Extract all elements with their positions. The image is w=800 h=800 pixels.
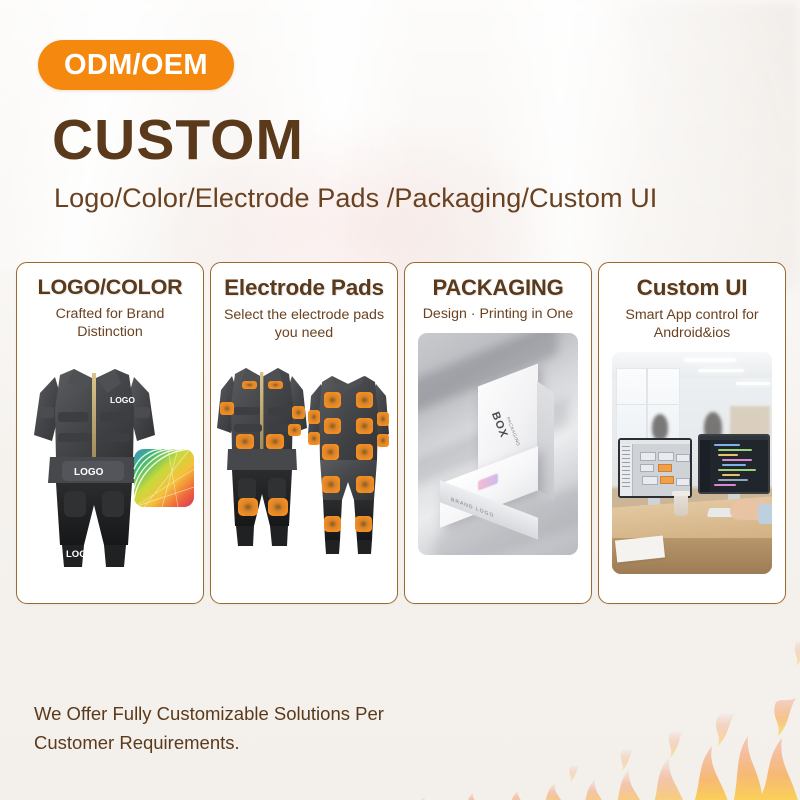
electrode-pad <box>355 516 372 532</box>
footer-blurb: We Offer Fully Customizable Solutions Pe… <box>34 700 454 757</box>
electrode-pad <box>308 410 320 424</box>
electrode-pad <box>242 381 257 389</box>
card-subtitle: Smart App control for Android&ios <box>606 306 778 342</box>
electrode-pad <box>268 381 283 389</box>
electrode-pad <box>266 434 284 449</box>
logo-mark-leg: LOGO <box>66 549 94 560</box>
monitor-ui-design <box>618 438 692 498</box>
electrode-pad <box>322 444 339 460</box>
ceiling-light <box>684 358 736 362</box>
odm-oem-badge-label: ODM/OEM <box>64 49 208 82</box>
electrode-pad <box>220 402 234 415</box>
card-logo-color[interactable]: LOGO/COLOR Crafted for Brand Distinction <box>16 262 204 604</box>
infographic-page: ODM/OEM CUSTOM Logo/Color/Electrode Pads… <box>0 0 800 800</box>
electrode-pad <box>308 432 320 445</box>
electrode-pad <box>324 516 341 532</box>
monitor-code <box>698 434 770 494</box>
shelf <box>730 406 770 436</box>
electrode-pad <box>324 418 341 434</box>
background-shade-right <box>590 0 800 290</box>
card-packaging[interactable]: PACKAGING Design · Printing in One BOX P… <box>404 262 592 604</box>
card-media-ems-suit-logo: LOGO LOGO LOGO <box>22 349 198 603</box>
card-title: LOGO/COLOR <box>38 276 183 299</box>
ems-suit-electrode-illustration <box>216 350 392 580</box>
person-silhouette <box>652 414 668 440</box>
card-media-packaging: BOX PACKAGING BRAND LOGO <box>410 331 586 603</box>
card-subtitle: Crafted for Brand Distinction <box>24 305 196 341</box>
ems-suit-logo-illustration: LOGO LOGO LOGO <box>22 349 198 579</box>
electrode-pad <box>268 498 288 516</box>
card-custom-ui[interactable]: Custom UI Smart App control for Android&… <box>598 262 786 604</box>
electrode-pad <box>236 434 254 449</box>
coffee-cup-lid <box>672 491 690 496</box>
card-media-ems-suit-pads <box>216 350 392 603</box>
window <box>616 368 680 444</box>
electrode-pad <box>324 392 341 408</box>
electrode-pad <box>356 392 373 408</box>
card-title: PACKAGING <box>432 276 563 299</box>
electrode-pad <box>292 406 305 419</box>
feature-card-list: LOGO/COLOR Crafted for Brand Distinction <box>16 262 786 604</box>
card-title: Electrode Pads <box>224 276 384 300</box>
ceiling-light <box>736 382 770 385</box>
electrode-pad <box>377 412 389 426</box>
suit-front-view <box>217 368 307 546</box>
card-electrode-pads[interactable]: Electrode Pads Select the electrode pads… <box>210 262 398 604</box>
office-photo <box>612 352 772 574</box>
odm-oem-badge: ODM/OEM <box>38 40 234 90</box>
packaging-photo-panel: BOX PACKAGING BRAND LOGO <box>418 333 578 555</box>
sleeve <box>758 504 772 524</box>
electrode-pad <box>356 418 373 434</box>
card-subtitle: Design · Printing in One <box>423 305 574 323</box>
card-subtitle: Select the electrode pads you need <box>218 306 390 342</box>
electrode-pad <box>377 434 389 447</box>
ceiling-light <box>698 369 744 372</box>
suit-back-view <box>308 376 389 554</box>
window-bar <box>616 404 678 406</box>
electrode-pad <box>356 476 374 493</box>
color-fan-swatch <box>134 449 194 507</box>
electrode-pad <box>238 498 258 516</box>
electrode-pad <box>322 476 340 493</box>
logo-mark-waist: LOGO <box>74 467 104 478</box>
card-media-office <box>604 350 780 603</box>
logo-mark-chest: LOGO <box>110 395 135 405</box>
page-title: CUSTOM <box>52 112 304 169</box>
screen-ui-design <box>620 440 690 496</box>
coffee-cup <box>674 494 688 516</box>
screen-code-editor <box>700 436 768 492</box>
electrode-pad <box>356 444 373 460</box>
card-title: Custom UI <box>637 276 748 300</box>
page-subtitle: Logo/Color/Electrode Pads /Packaging/Cus… <box>54 183 657 214</box>
electrode-pad <box>288 424 301 436</box>
box-standing-side <box>537 381 554 501</box>
